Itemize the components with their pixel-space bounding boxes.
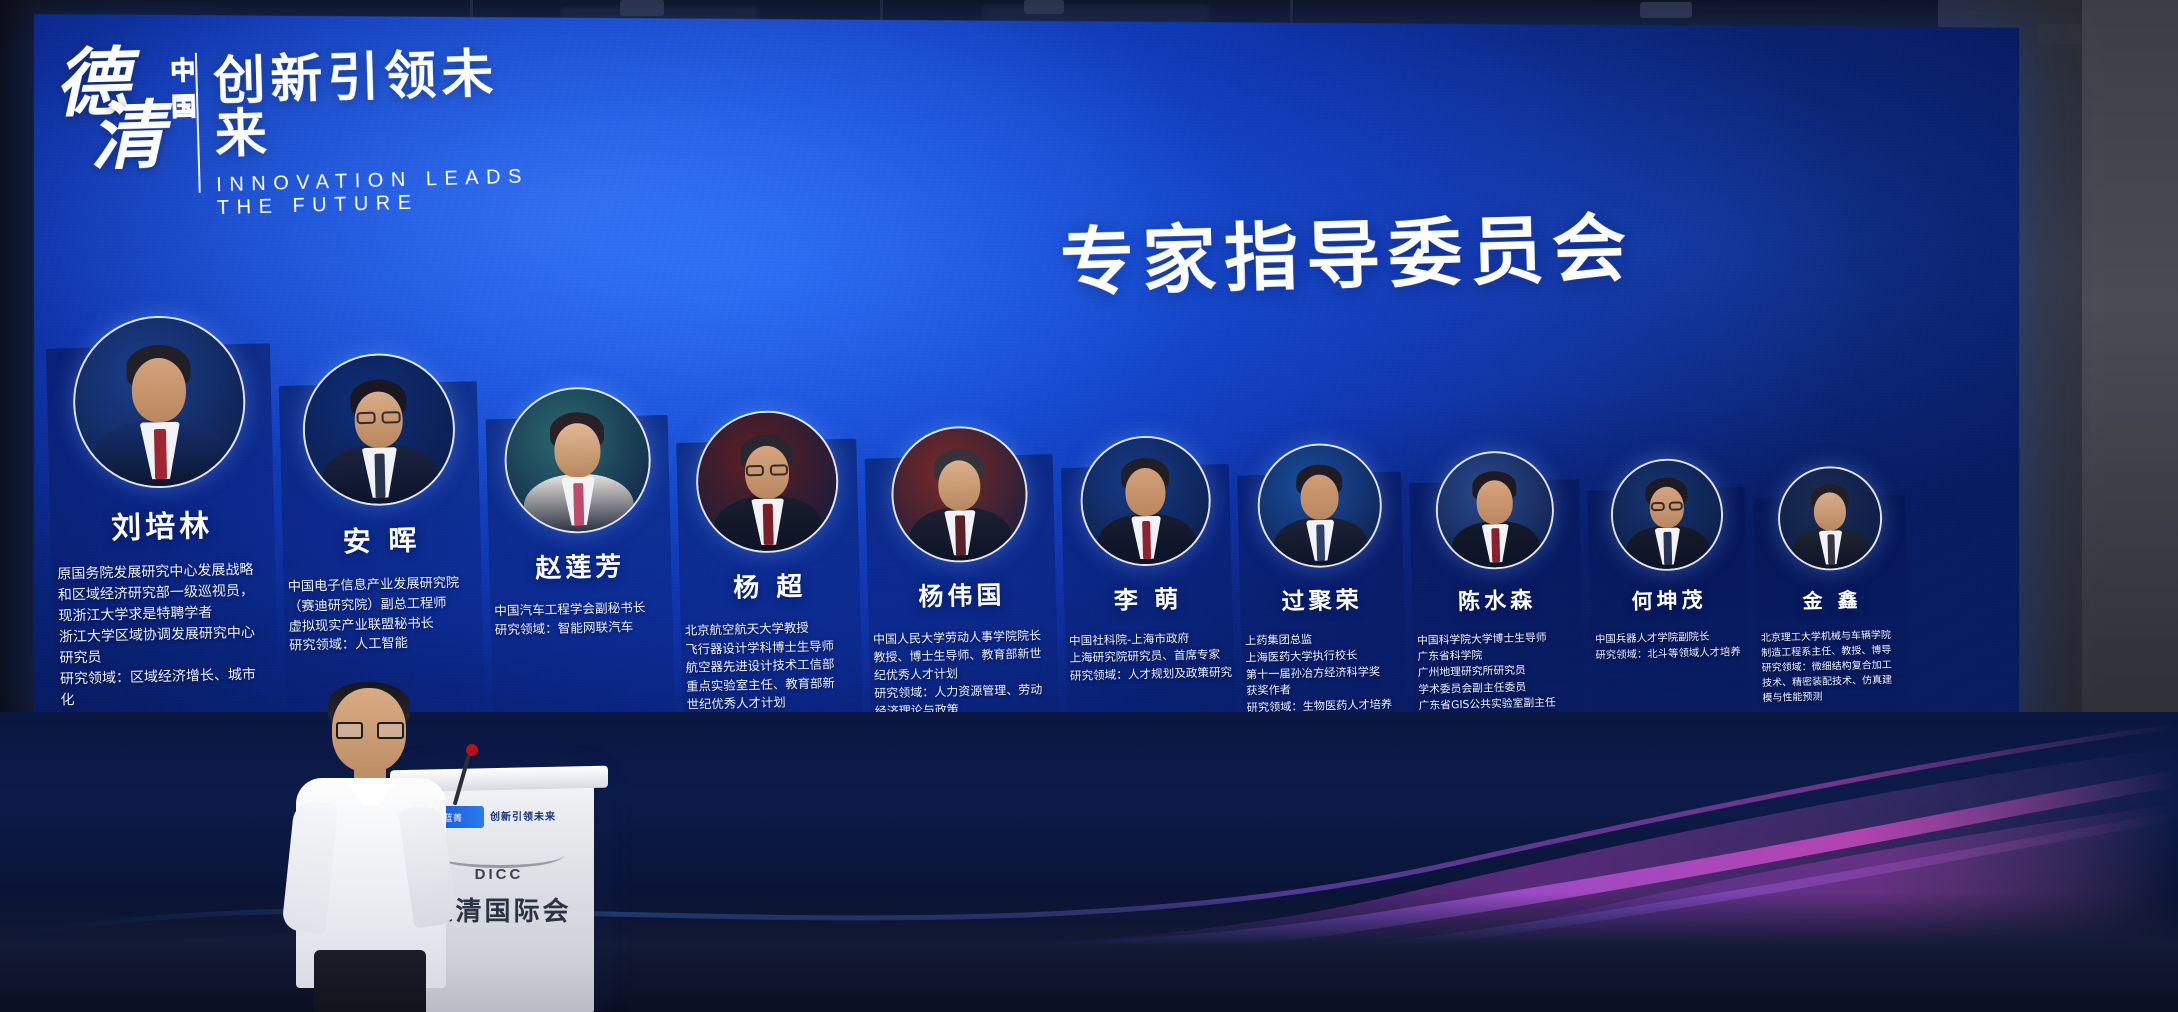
portrait-face bbox=[1125, 468, 1166, 517]
portrait-tie bbox=[1142, 521, 1152, 559]
expert-card[interactable]: 杨伟国中国人民大学劳动人事学院院长教授、博士生导师、教育部新世纪优秀人才计划研究… bbox=[857, 304, 1063, 739]
expert-name: 何坤茂 bbox=[1586, 583, 1753, 617]
portrait-glasses-icon bbox=[746, 465, 764, 476]
portrait-face bbox=[131, 358, 186, 423]
conference-stage-photo: 德 清 中国 创新引领未来 INNOVATION LEADS THE FUTUR… bbox=[0, 0, 2178, 1012]
expert-card[interactable]: 何坤茂中国兵器人才学院副院长研究领域：北斗等领域人才培养 bbox=[1579, 311, 1755, 745]
speaker-person bbox=[288, 682, 458, 1012]
expert-bio: 中国汽车工程学会副秘书长研究领域：智能网联汽车 bbox=[486, 598, 677, 640]
event-logo: 德 清 中国 创新引领未来 INNOVATION LEADS THE FUTUR… bbox=[54, 37, 539, 220]
podium-badge-subtitle: 创新引领未来 bbox=[490, 808, 556, 823]
expert-portrait[interactable] bbox=[71, 314, 247, 490]
expert-card[interactable]: 刘培林原国务院发展研究中心发展战略和区域经济研究部一级巡视员，现浙江大学求是特聘… bbox=[41, 297, 283, 733]
portrait-face bbox=[554, 423, 601, 478]
logo-slogan-cn: 创新引领未来 bbox=[213, 47, 537, 162]
expert-bio: 中国电子信息产业发展研究院（赛迪研究院）副总工程师虚拟现实产业联盟秘书长研究领域… bbox=[280, 573, 488, 657]
portrait-tie bbox=[1664, 532, 1672, 565]
expert-card[interactable]: 陈水森中国科学院大学博士生导师广东省科学院广州地理研究所研究员学术委员会副主任委… bbox=[1401, 309, 1589, 743]
expert-portrait[interactable] bbox=[1256, 442, 1383, 569]
expert-name: 陈水森 bbox=[1408, 581, 1587, 617]
expert-portrait[interactable] bbox=[890, 425, 1029, 564]
portrait-face bbox=[1300, 474, 1339, 521]
expert-portrait[interactable] bbox=[1434, 450, 1555, 571]
expert-card[interactable]: 赵莲芳中国汽车工程学会副秘书长研究领域：智能网联汽车 bbox=[479, 301, 679, 736]
right-wall-edge bbox=[2082, 0, 2178, 760]
logo-chinese-mark: 德 清 中国 bbox=[54, 47, 182, 173]
logo-char-qing: 清 bbox=[89, 101, 182, 172]
expert-portrait[interactable] bbox=[1777, 465, 1884, 572]
expert-card[interactable]: 安 晖中国电子信息产业发展研究院（赛迪研究院）副总工程师虚拟现实产业联盟秘书长研… bbox=[273, 299, 489, 734]
portrait-tie bbox=[1491, 528, 1500, 562]
portrait-tie bbox=[955, 515, 965, 555]
expert-bio: 中国社科院-上海市政府上海研究院研究员、首席专家研究领域：人才规划及政策研究 bbox=[1061, 629, 1238, 685]
microphone-head-icon bbox=[466, 744, 478, 756]
expert-bio: 中国兵器人才学院副院长研究领域：北斗等领域人才培养 bbox=[1587, 629, 1754, 664]
expert-name: 杨伟国 bbox=[864, 574, 1061, 615]
expert-bio: 北京理工大学机械与车辆学院制造工程系主任、教授、博导研究领域：微细结构复合加工技… bbox=[1753, 627, 1915, 706]
expert-portrait[interactable] bbox=[1079, 434, 1212, 567]
ceiling-light bbox=[1024, 0, 1064, 14]
expert-bio: 中国人民大学劳动人事学院院长教授、博士生导师、教育部新世纪优秀人才计划研究领域：… bbox=[865, 626, 1063, 721]
expert-bio: 原国务院发展研究中心发展战略和区域经济研究部一级巡视员，现浙江大学求是特聘学者浙… bbox=[47, 559, 283, 712]
expert-portrait[interactable] bbox=[503, 385, 653, 535]
portrait-face bbox=[1476, 480, 1514, 524]
portrait-tie bbox=[763, 504, 774, 546]
portrait-glasses-icon bbox=[381, 411, 401, 423]
expert-portrait[interactable] bbox=[301, 352, 457, 508]
expert-card[interactable]: 过聚荣上药集团总监上海医药大学执行校长第十一届孙冶方经济科学奖获奖作者研究领域：… bbox=[1229, 308, 1411, 742]
portrait-glasses-icon bbox=[1650, 502, 1664, 511]
expert-bio: 上药集团总监上海医药大学执行校长第十一届孙冶方经济科学奖获奖作者研究领域：生物医… bbox=[1237, 629, 1411, 717]
portrait-glasses-icon bbox=[770, 465, 788, 476]
expert-card[interactable]: 杨 超北京航空航天大学教授飞行器设计学科博士生导师航空器先进设计技术工信部重点实… bbox=[669, 303, 867, 737]
expert-portrait[interactable] bbox=[694, 409, 839, 554]
portrait-tie bbox=[374, 453, 385, 498]
expert-name: 金 鑫 bbox=[1752, 582, 1913, 615]
expert-card[interactable]: 金 鑫北京理工大学机械与车辆学院制造工程系主任、教授、博导研究领域：微细结构复合… bbox=[1745, 313, 1915, 747]
portrait-glasses-icon bbox=[1669, 501, 1683, 510]
expert-name: 李 萌 bbox=[1060, 578, 1237, 617]
portrait-glasses-icon bbox=[356, 412, 376, 424]
expert-name: 过聚荣 bbox=[1236, 579, 1409, 617]
expert-list: 刘培林原国务院发展研究中心发展战略和区域经济研究部一级巡视员，现浙江大学求是特聘… bbox=[46, 300, 1926, 730]
portrait-tie bbox=[1316, 525, 1325, 561]
expert-name: 安 晖 bbox=[278, 517, 485, 562]
portrait-face bbox=[1813, 492, 1846, 531]
expert-card[interactable]: 李 萌中国社科院-上海市政府上海研究院研究员、首席专家研究领域：人才规划及政策研… bbox=[1053, 306, 1239, 740]
expert-portrait[interactable] bbox=[1610, 457, 1725, 572]
expert-name: 刘培林 bbox=[46, 499, 279, 549]
page-title: 专家指导委员会 bbox=[1059, 189, 1636, 311]
portrait-tie bbox=[573, 483, 584, 526]
expert-name: 赵莲芳 bbox=[485, 545, 676, 587]
speaker-trousers bbox=[314, 950, 426, 1012]
expert-name: 杨 超 bbox=[675, 564, 864, 606]
ceiling-light bbox=[1640, 2, 1692, 18]
logo-slogan-en: INNOVATION LEADS THE FUTURE bbox=[216, 165, 538, 220]
glasses-icon bbox=[336, 722, 404, 739]
ceiling-light bbox=[620, 0, 664, 16]
portrait-tie bbox=[154, 429, 167, 480]
portrait-tie bbox=[1827, 534, 1835, 564]
